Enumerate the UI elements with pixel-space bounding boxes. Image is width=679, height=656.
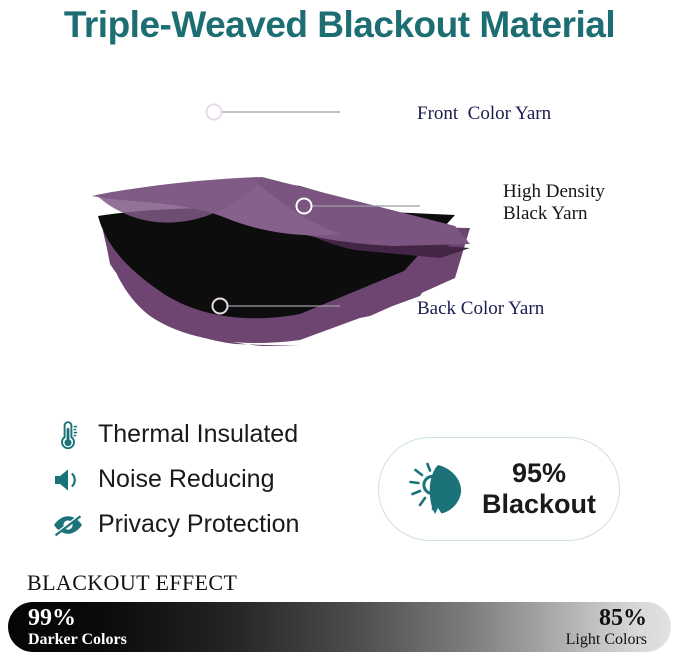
feature-label-privacy-protection: Privacy Protection <box>98 510 299 539</box>
blackout-badge-label: Blackout <box>482 489 596 519</box>
feature-label-thermal-insulated: Thermal Insulated <box>98 420 298 449</box>
blackout-effect-gradient-bar: 99% Darker Colors 85% Light Colors <box>8 602 671 652</box>
speaker-sound-icon <box>48 463 88 497</box>
blackout-effect-darker-end: 99% Darker Colors <box>28 602 127 652</box>
blackout-badge-percent: 95% <box>512 458 566 488</box>
feature-item-thermal-insulated: Thermal Insulated <box>48 412 358 457</box>
thermometer-icon <box>48 418 88 452</box>
callout-label-back-color-yarn: Back Color Yarn <box>417 298 544 320</box>
blackout-effect-heading: BLACKOUT EFFECT <box>27 570 237 596</box>
blackout-badge-text: 95% Blackout <box>482 458 596 520</box>
sun-behind-curtain-icon <box>402 454 474 524</box>
callout-label-high-density-black-yarn: High Density Black Yarn <box>503 181 605 226</box>
infographic-page: Triple-Weaved Blackout Material <box>0 0 679 656</box>
light-colors-percent: 85% <box>599 606 647 631</box>
blackout-badge: 95% Blackout <box>378 437 620 541</box>
eye-slash-icon <box>48 508 88 542</box>
feature-item-privacy-protection: Privacy Protection <box>48 502 358 547</box>
darker-colors-label: Darker Colors <box>28 631 127 649</box>
feature-label-noise-reducing: Noise Reducing <box>98 465 275 494</box>
darker-colors-percent: 99% <box>28 606 76 631</box>
blackout-effect-light-end: 85% Light Colors <box>566 602 647 652</box>
callout-label-front-color-yarn: Front Color Yarn <box>417 103 551 125</box>
light-colors-label: Light Colors <box>566 631 647 649</box>
page-title: Triple-Weaved Blackout Material <box>0 4 679 46</box>
callout-dot-icon-front <box>207 105 222 120</box>
feature-item-noise-reducing: Noise Reducing <box>48 457 358 502</box>
feature-list: Thermal Insulated Noise Reducing Pri <box>48 412 358 547</box>
